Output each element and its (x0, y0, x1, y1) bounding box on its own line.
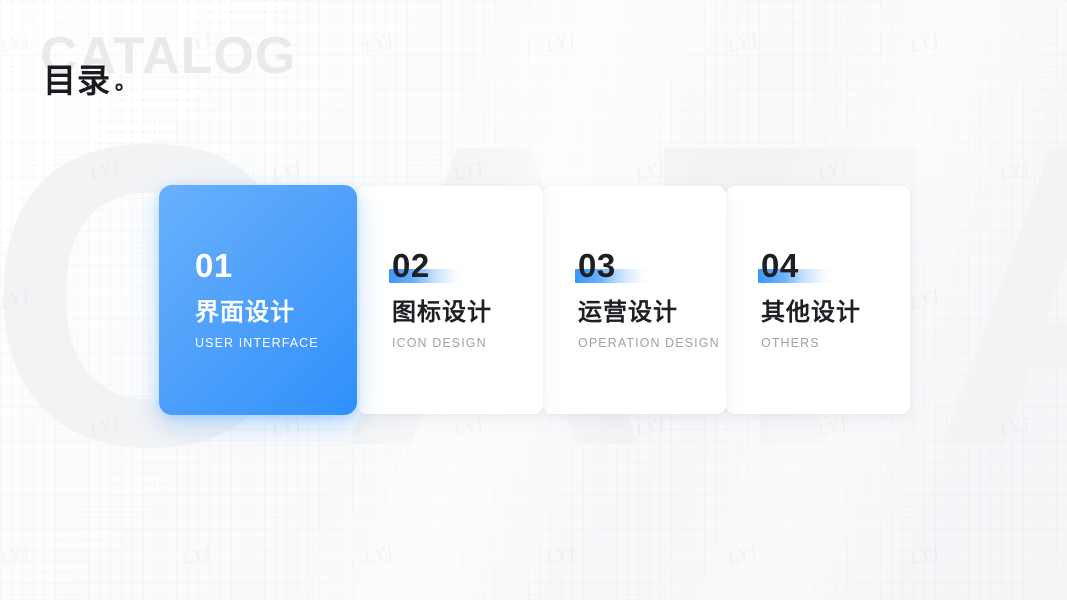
card-title: 界面设计 (195, 299, 347, 327)
card-number-text: 04 (761, 247, 799, 284)
catalog-card-01[interactable]: 01界面设计USER INTERFACE (159, 185, 357, 415)
card-number: 03 (578, 249, 616, 282)
card-subtitle: USER INTERFACE (195, 336, 347, 350)
catalog-slide: CATA LYJLYJLYJLYJLYJLYJLYJLYJLYJLYJLYJLY… (0, 0, 1067, 600)
page-title-dot: 。 (115, 71, 137, 94)
card-title: 运营设计 (578, 299, 716, 327)
card-subtitle: OPERATION DESIGN (578, 336, 716, 350)
catalog-card-03[interactable]: 03运营设计OPERATION DESIGN (543, 186, 726, 414)
card-subtitle: ICON DESIGN (392, 336, 533, 350)
card-number: 04 (761, 249, 799, 282)
card-content: 03运营设计OPERATION DESIGN (578, 249, 716, 350)
card-number: 02 (392, 249, 430, 282)
card-title: 图标设计 (392, 299, 533, 327)
card-number-text: 01 (195, 247, 233, 284)
card-title: 其他设计 (761, 299, 900, 327)
catalog-card-04[interactable]: 04其他设计OTHERS (726, 186, 910, 414)
card-number-text: 02 (392, 247, 430, 284)
card-number-text: 03 (578, 247, 616, 284)
card-content: 01界面设计USER INTERFACE (195, 249, 347, 350)
card-subtitle: OTHERS (761, 336, 900, 350)
card-content: 04其他设计OTHERS (761, 249, 900, 350)
catalog-card-02[interactable]: 02图标设计ICON DESIGN (357, 186, 543, 414)
page-title: 目录。 (43, 54, 137, 102)
page-title-text: 目录 (43, 62, 111, 99)
card-content: 02图标设计ICON DESIGN (392, 249, 533, 350)
card-number: 01 (195, 249, 233, 282)
